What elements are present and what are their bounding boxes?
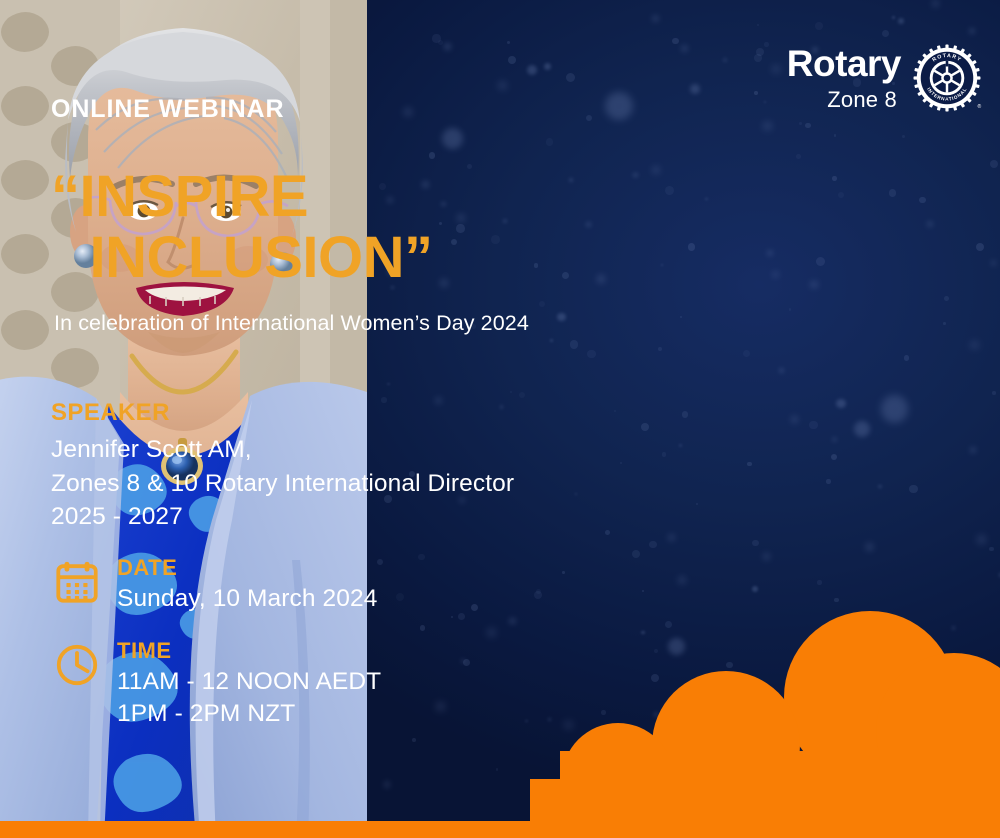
detail-value-date: Sunday, 10 March 2024 xyxy=(117,583,377,615)
detail-text-date: DATE Sunday, 10 March 2024 xyxy=(117,555,377,615)
webinar-poster: Rotary Zone 8 xyxy=(0,0,1000,838)
rotary-zone: Zone 8 xyxy=(787,89,897,111)
poster-content: ONLINE WEBINAR “INSPIRE INCLUSION” In ce… xyxy=(51,0,633,838)
speaker-details: Jennifer Scott AM, Zones 8 & 10 Rotary I… xyxy=(51,433,514,534)
headline-line-1: “INSPIRE xyxy=(51,166,591,227)
detail-row-time: TIME 11AM - 12 NOON AEDT 1PM - 2PM NZT xyxy=(54,638,381,730)
clock-icon xyxy=(54,642,100,688)
kicker-online-webinar: ONLINE WEBINAR xyxy=(51,95,284,124)
time-value-line-1: 11AM - 12 NOON AEDT xyxy=(117,666,381,698)
rotary-wordmark: Rotary Zone 8 xyxy=(787,45,901,111)
speaker-term: 2025 - 2027 xyxy=(51,500,514,534)
registered-mark: ® xyxy=(978,103,982,110)
page-title: “INSPIRE INCLUSION” xyxy=(51,166,591,289)
detail-value-time: 11AM - 12 NOON AEDT 1PM - 2PM NZT xyxy=(117,666,381,730)
speaker-name: Jennifer Scott AM, xyxy=(51,433,514,467)
date-value-line-1: Sunday, 10 March 2024 xyxy=(117,583,377,615)
detail-label-time: TIME xyxy=(117,638,381,663)
rotary-gear-icon: ROTARY INTERNATIONAL ® xyxy=(911,42,983,114)
time-value-line-2: 1PM - 2PM NZT xyxy=(117,698,381,730)
calendar-icon xyxy=(54,559,100,605)
detail-text-time: TIME 11AM - 12 NOON AEDT 1PM - 2PM NZT xyxy=(117,638,381,730)
orange-bottom-bar xyxy=(0,821,1000,838)
speaker-label: SPEAKER xyxy=(51,399,170,427)
speaker-title: Zones 8 & 10 Rotary International Direct… xyxy=(51,467,514,501)
rotary-name: Rotary xyxy=(787,45,901,82)
rotary-logo: Rotary Zone 8 xyxy=(787,42,983,114)
detail-label-date: DATE xyxy=(117,555,377,580)
detail-row-date: DATE Sunday, 10 March 2024 xyxy=(54,555,377,615)
headline-line-2: INCLUSION” xyxy=(51,227,471,288)
headline-subline: In celebration of International Women’s … xyxy=(54,311,529,336)
